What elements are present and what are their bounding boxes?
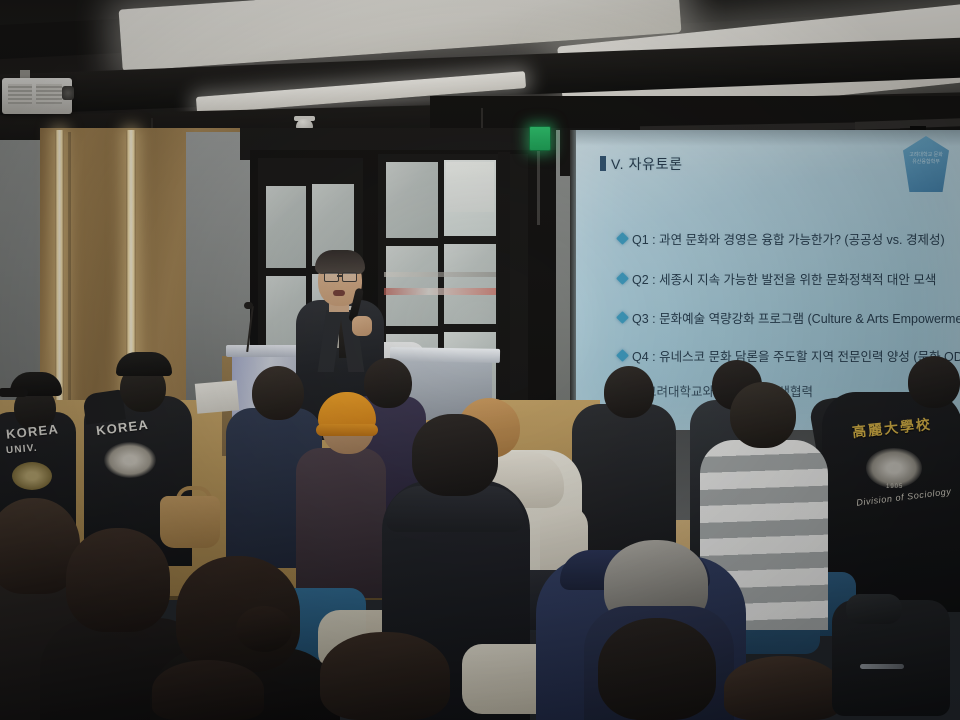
audience-beanie-person (296, 448, 386, 598)
door-mullion (498, 152, 510, 440)
foreground-attendee-head-2 (66, 528, 170, 632)
tiger-mascot-icon-2 (104, 442, 156, 478)
slide-corner-logo-text: 고려대학교 문화유산융합학부 (908, 152, 944, 166)
wood-panel-seam (68, 132, 71, 422)
projector-lens-icon (62, 86, 74, 100)
door-glass-panel (386, 246, 438, 326)
tan-handbag (160, 496, 220, 548)
backpack-flap (846, 594, 902, 624)
audience-head (364, 358, 412, 408)
hair-bun (236, 606, 292, 652)
eyeglasses-bridge (337, 275, 342, 277)
audience-head (252, 366, 304, 420)
slide-bullet-text-2: Q2 : 세종시 지속 가능한 발전을 위한 문화정책적 대안 모색 (632, 269, 936, 288)
led-strip-light-1 (55, 130, 64, 406)
door-glass-panel (444, 244, 496, 324)
projector-vent-icon-2 (36, 84, 62, 104)
backpack-zipper-icon (860, 664, 904, 669)
exit-sign-post (537, 149, 540, 225)
audience-head (730, 382, 796, 448)
side-table-top (390, 347, 500, 363)
audience-head (908, 356, 960, 408)
tiger-mascot-icon-3 (866, 448, 922, 488)
emergency-exit-sign (529, 126, 551, 151)
door-glass-panel (386, 162, 438, 238)
door-marker-stripe-2 (384, 272, 496, 277)
screen-shadow (576, 130, 960, 146)
slide-title: V. 자유토론 (611, 154, 851, 174)
door-marker-stripe (384, 288, 496, 295)
baseball-cap-icon-2 (116, 352, 172, 376)
presenter-hand (352, 316, 372, 336)
pendant-rod-1 (481, 108, 483, 130)
baseball-cap-brim (0, 388, 28, 397)
slide-title-marker (600, 156, 606, 171)
eyeglasses-icon-left (324, 272, 339, 282)
foreground-attendee-head-4 (320, 632, 450, 720)
foreground-attendee-head-5 (598, 618, 716, 720)
foreground-attendee-head-7 (724, 656, 842, 720)
eyeglasses-icon-right (342, 272, 357, 282)
slide-bullet-text-3: Q3 : 문화예술 역량강화 프로그램 (Culture & Arts Empo… (632, 308, 960, 327)
door-glass-reflection (446, 162, 494, 212)
orange-beanie-brim (316, 424, 378, 436)
slide-bullet-text-1: Q1 : 과연 문화와 경영은 융합 가능한가? (공공성 vs. 경제성) (632, 229, 945, 248)
gooseneck-microphone-icon (244, 302, 253, 309)
audience-head (412, 414, 498, 496)
projector-vent-icon (8, 84, 32, 104)
tiger-mascot-icon (12, 462, 52, 490)
slide-bullet-text-4: Q4 : 유네스코 문화 담론을 주도할 지역 전문인력 양성 (문화 ODA) (632, 346, 960, 365)
foreground-attendee-head-6 (152, 660, 264, 720)
presenter-mouth (333, 290, 345, 296)
lecture-hall-photo: V. 자유토론 Q1 : 과연 문화와 경영은 융합 가능한가? (공공성 vs… (0, 0, 960, 720)
jacket-year-text: 1905 (886, 484, 903, 490)
paper-stack (195, 380, 239, 414)
audience-head (604, 366, 654, 418)
door-glass-panel (266, 186, 306, 268)
presenter-hair (315, 250, 365, 274)
